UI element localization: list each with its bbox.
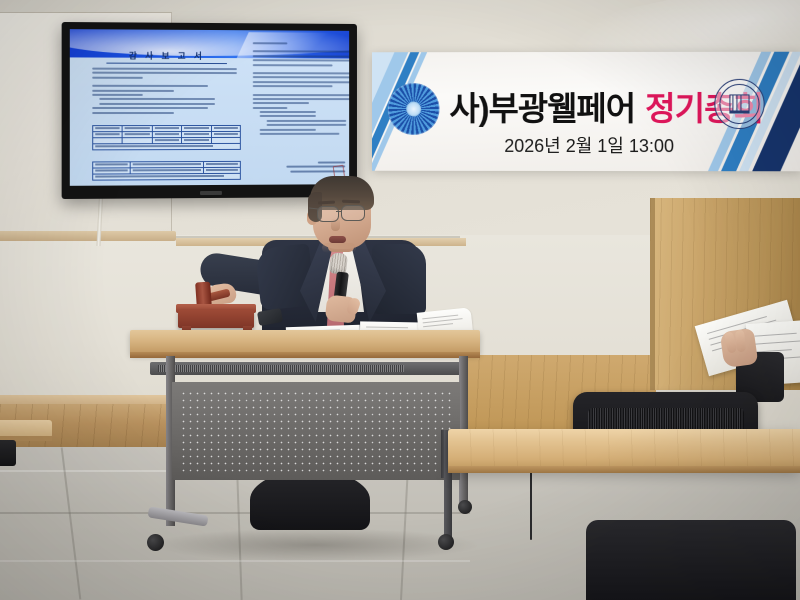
eyeglasses-bridge [336,211,342,212]
slide-text-line [253,51,349,53]
attendee-table-edge [448,466,800,473]
speaker-nose [331,218,340,231]
desk-rail-mesh [158,365,404,372]
slide-table-financial [92,124,241,149]
slide-text-line [253,98,349,100]
desk-panel-perforation [180,390,452,472]
slide-list-item [92,89,174,91]
sunburst-logo [388,83,440,135]
slide-list-item [253,107,288,109]
presenter-desk-edge [130,352,480,358]
floor-grout-line [0,512,470,514]
floor-cable [530,470,532,540]
slide-list-item [92,85,208,87]
slide-table-caption [92,117,241,121]
slide-right-column [253,42,349,137]
slide-table-income [92,160,241,180]
slide-list-item [92,107,208,109]
eyeglasses-lens-right [341,205,365,221]
banner-org-name: 사)부광웰페어 [449,90,635,127]
display-brand-logo [200,191,222,195]
table-row [93,173,240,179]
speaker-mouth [329,236,346,243]
side-chair [0,440,16,466]
slide-text-line [253,94,349,96]
wall-mounted-display[interactable]: 감 사 보 고 서 [62,22,357,199]
slide-sub-item [260,133,340,135]
slide-sub-item [267,124,347,126]
slide-sub-item [99,98,215,100]
desk-floor-shadow [150,528,480,562]
slide-sub-item [260,111,316,113]
event-banner: 사)부광웰페어정기총회 2026년 2월 1일 13:00 [372,52,800,172]
slide-left-column [92,68,241,181]
table-row [93,143,240,148]
slide-text-line [253,59,349,61]
slide-text-line [253,64,333,66]
slide-subheading [253,42,288,44]
slide-list-item [92,112,174,114]
slide-table-caption-2 [92,153,241,158]
conference-room-photo: 감 사 보 고 서 [0,0,800,600]
whiteboard-ledge [0,231,176,241]
lectern-edge [650,198,655,390]
slide-text-line [253,72,349,74]
speaker-chin [322,243,356,253]
presenter-desk-top [130,330,480,354]
foreground-chair[interactable] [586,520,796,600]
slide-text-line [253,55,349,57]
slide-text-line [92,68,236,70]
slide-text-line [253,81,349,83]
slide-text-line [253,102,309,104]
slide-sub-item [260,115,316,117]
presentation-slide: 감 사 보 고 서 [70,29,349,186]
slide-sub-item [260,128,316,130]
slide-sub-item [99,103,215,105]
banner-datetime: 2026년 2월 1일 13:00 [479,132,699,158]
slide-text-line [92,72,236,74]
desk-caster-wheel [458,500,472,514]
floor-grout-line [0,560,470,562]
display-panel: 감 사 보 고 서 [70,29,349,186]
slide-list-item [92,94,143,96]
slide-text-line [92,76,143,78]
foreground-table-caster [438,534,454,550]
organization-seal [714,79,764,129]
slide-title: 감 사 보 고 서 [106,50,227,65]
slide-text-line [253,85,333,87]
slide-text-line [253,76,349,78]
slide-sub-item [267,120,347,122]
attendee-table-grain [448,429,800,469]
